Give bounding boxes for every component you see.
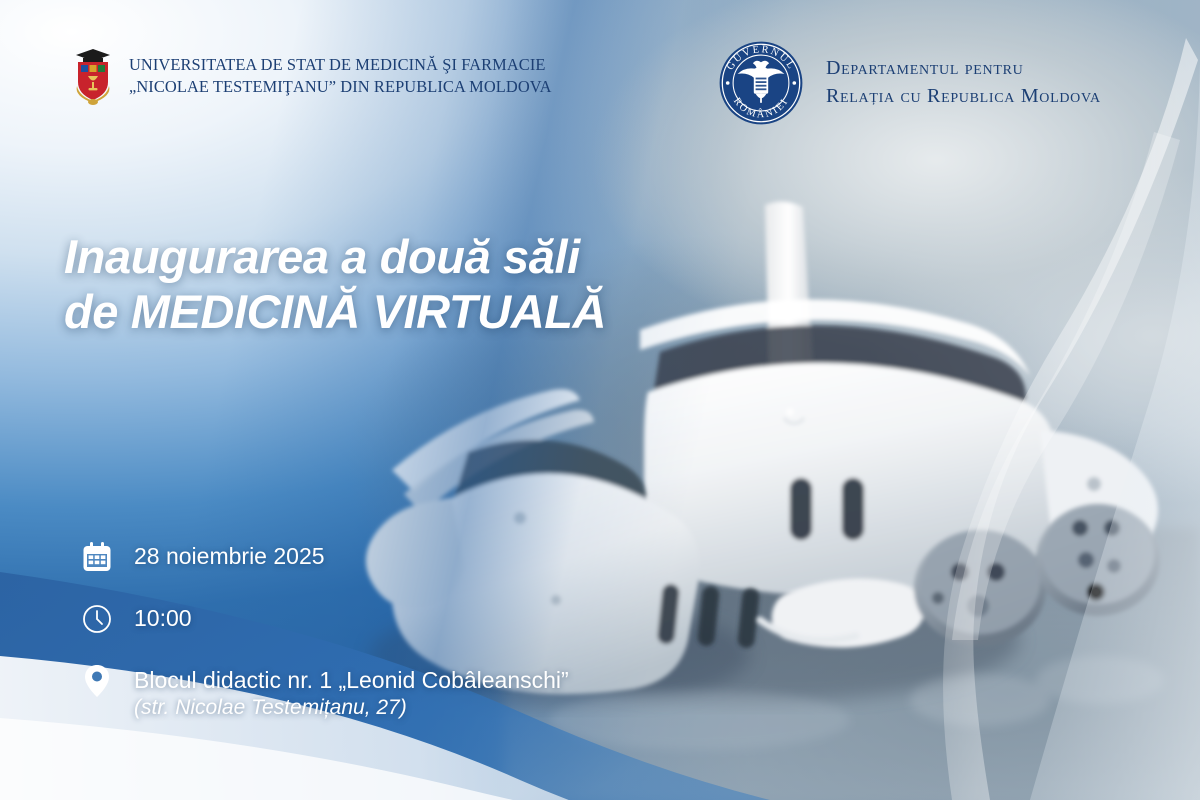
page-title: Inaugurarea a două săli de MEDICINĂ VIRT… (64, 230, 704, 340)
usmf-name-line2: „NICOLAE TESTEMIŢANU” DIN REPUBLICA MOLD… (129, 76, 552, 98)
event-details-list: 28 noiembrie 2025 10:00 Blocul didactic … (78, 538, 638, 722)
guvernul-romaniei-seal-icon: GUVERNUL ROMÂNIEI (716, 38, 806, 128)
event-poster: UNIVERSITATEA DE STAT DE MEDICINĂ ŞI FAR… (0, 0, 1200, 800)
government-name-line2: Relația cu Republica Moldova (826, 83, 1101, 111)
title-line-2: de MEDICINĂ VIRTUALĂ (64, 285, 704, 340)
event-date-text: 28 noiembrie 2025 (134, 538, 325, 571)
event-location-text: Blocul didactic nr. 1 „Leonid Cobâleansc… (134, 662, 569, 722)
location-pin-icon (78, 662, 116, 700)
calendar-icon (78, 538, 116, 576)
event-date-row: 28 noiembrie 2025 (78, 538, 638, 576)
poster-header: UNIVERSITATEA DE STAT DE MEDICINĂ ŞI FAR… (0, 0, 1200, 140)
government-logo-block: GUVERNUL ROMÂNIEI Departamentul pentru R… (716, 38, 1101, 128)
event-location-address: (str. Nicolae Testemițanu, 27) (134, 695, 569, 722)
government-department-name: Departamentul pentru Relația cu Republic… (826, 55, 1101, 110)
usmf-crest-icon (70, 46, 116, 106)
usmf-name-line1: UNIVERSITATEA DE STAT DE MEDICINĂ ŞI FAR… (129, 54, 552, 76)
government-name-line1: Departamentul pentru (826, 55, 1101, 83)
event-location-main: Blocul didactic nr. 1 „Leonid Cobâleansc… (134, 667, 569, 693)
usmf-name: UNIVERSITATEA DE STAT DE MEDICINĂ ŞI FAR… (129, 54, 552, 99)
title-line-1: Inaugurarea a două săli (64, 230, 580, 283)
clock-icon (78, 600, 116, 638)
event-location-row: Blocul didactic nr. 1 „Leonid Cobâleansc… (78, 662, 638, 722)
event-time-row: 10:00 (78, 600, 638, 638)
usmf-logo-block: UNIVERSITATEA DE STAT DE MEDICINĂ ŞI FAR… (70, 46, 552, 106)
event-time-text: 10:00 (134, 600, 192, 633)
